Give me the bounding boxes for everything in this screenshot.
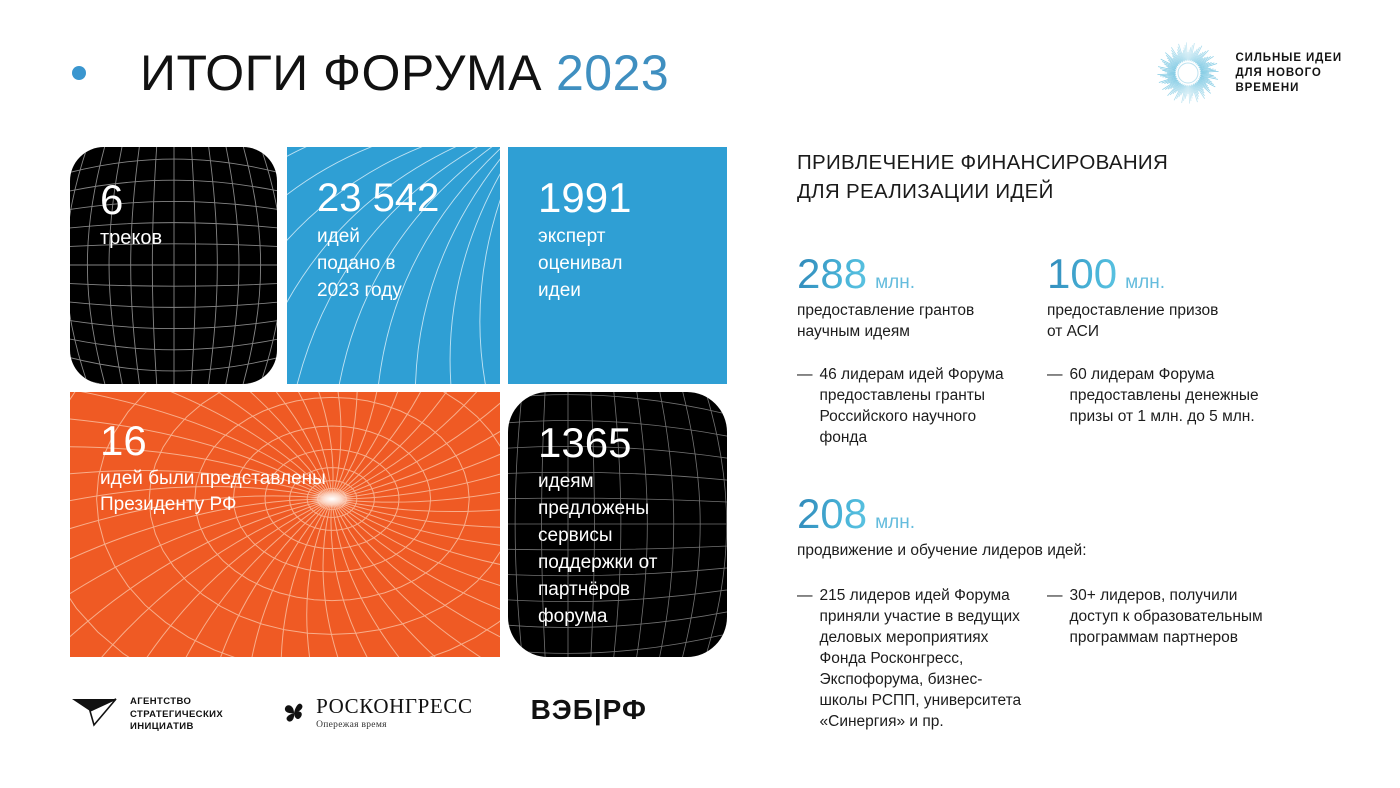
tile-tracks-number: 6 xyxy=(100,177,253,223)
stat-education-note-left-wrap: — 215 лидеров идей Форума приняли участи… xyxy=(797,585,1047,732)
radial-sunburst-icon xyxy=(1155,40,1221,106)
stat-prizes-value: 100 xyxy=(1047,250,1117,298)
stat-prizes-unit: млн. xyxy=(1125,272,1165,294)
stat-education-note-left-dash: — xyxy=(797,585,813,732)
stat-grants-unit: млн. xyxy=(875,272,915,294)
stat-education-note-right-wrap: — 30+ лидеров, получили доступ к образов… xyxy=(1047,585,1327,732)
partner-logos: Агентство СТРАТЕГИЧЕСКИХ ИНИЦИАТИВ РОСКО… xyxy=(70,695,647,735)
tile-experts-number: 1991 xyxy=(538,175,703,221)
stat-education-value: 208 xyxy=(797,490,867,538)
stat-education-note-left: — 215 лидеров идей Форума приняли участи… xyxy=(797,585,1047,732)
tile-services-number: 1365 xyxy=(538,420,703,466)
finance-section: ПРИВЛЕЧЕНИЕ ФИНАНСИРОВАНИЯ ДЛЯ РЕАЛИЗАЦИ… xyxy=(797,148,1342,732)
tile-experts-caption: эксперт оценивал идеи xyxy=(538,223,703,304)
stat-prizes-note: — 60 лидерам Форума предоставлены денежн… xyxy=(1047,364,1327,427)
infographic-page: ИТОГИ ФОРУМА2023 СИЛЬНЫЕ ИДЕИ ДЛЯ НОВОГО… xyxy=(0,0,1400,788)
stat-education-note-left-text: 215 лидеров идей Форума приняли участие … xyxy=(820,585,1022,732)
tile-ideas-submitted: 23 542 идей подано в 2023 году xyxy=(287,147,500,384)
tile-president-caption: идей были представлены Президенту РФ xyxy=(100,466,476,518)
stat-grants-note-dash: — xyxy=(797,364,813,448)
stat-education-description: продвижение и обучение лидеров идей: xyxy=(797,540,1342,561)
tile-experts: 1991 эксперт оценивал идеи xyxy=(508,147,727,384)
tile-services-caption: идеям предложены сервисы поддержки от па… xyxy=(538,468,703,630)
stat-grants-description: предоставление грантов научным идеям xyxy=(797,300,1047,342)
stat-education-notes: — 215 лидеров идей Форума приняли участи… xyxy=(797,585,1342,732)
tile-ideas-number: 23 542 xyxy=(317,175,476,221)
stat-grants-value: 288 xyxy=(797,250,867,298)
asi-arrow-icon xyxy=(70,695,122,735)
stat-education-note-right-text: 30+ лидеров, получили доступ к образоват… xyxy=(1070,585,1263,648)
brand-logo: СИЛЬНЫЕ ИДЕИ ДЛЯ НОВОГО ВРЕМЕНИ xyxy=(1155,40,1342,106)
brand-name: СИЛЬНЫЕ ИДЕИ ДЛЯ НОВОГО ВРЕМЕНИ xyxy=(1235,51,1342,96)
stat-education-note-right-dash: — xyxy=(1047,585,1063,648)
tile-partner-services: 1365 идеям предложены сервисы поддержки … xyxy=(508,392,727,657)
logo-asi: Агентство СТРАТЕГИЧЕСКИХ ИНИЦИАТИВ xyxy=(70,695,223,735)
logo-roscongress-tagline: Опережая время xyxy=(316,720,472,730)
tile-tracks-caption: треков xyxy=(100,225,253,252)
stat-education-unit: млн. xyxy=(875,512,915,534)
tile-tracks: 6 треков xyxy=(70,147,277,384)
stat-block-grants: 288 млн. предоставление грантов научным … xyxy=(797,250,1047,448)
stat-grants-note: — 46 лидерам идей Форума предоставлены г… xyxy=(797,364,1047,448)
stat-education-amount: 208 млн. xyxy=(797,490,1342,538)
logo-veb-name: ВЭБ|РФ xyxy=(531,695,647,725)
stat-block-prizes: 100 млн. предоставление призов от АСИ — … xyxy=(1047,250,1327,448)
stat-prizes-note-text: 60 лидерам Форума предоставлены денежные… xyxy=(1070,364,1259,427)
stat-prizes-note-dash: — xyxy=(1047,364,1063,427)
stat-grants-amount: 288 млн. xyxy=(797,250,1047,298)
stat-prizes-amount: 100 млн. xyxy=(1047,250,1327,298)
stat-grants-note-text: 46 лидерам идей Форума предоставлены гра… xyxy=(820,364,1004,448)
finance-heading: ПРИВЛЕЧЕНИЕ ФИНАНСИРОВАНИЯ ДЛЯ РЕАЛИЗАЦИ… xyxy=(797,148,1342,206)
logo-roscongress-name: РОСКОНГРЕСС xyxy=(316,695,472,718)
stat-education-note-right: — 30+ лидеров, получили доступ к образов… xyxy=(1047,585,1327,648)
logo-roscongress: РОСКОНГРЕСС Опережая время xyxy=(281,695,472,730)
finance-stats-row: 288 млн. предоставление грантов научным … xyxy=(797,250,1342,448)
logo-asi-text: Агентство СТРАТЕГИЧЕСКИХ ИНИЦИАТИВ xyxy=(130,696,223,734)
logo-veb: ВЭБ|РФ xyxy=(531,695,647,725)
stats-tile-grid: 6 треков 23 542 идей подано в 2023 году xyxy=(0,0,760,788)
roscongress-pinwheel-icon xyxy=(281,700,307,726)
tile-president-ideas: 16 идей были представлены Президенту РФ xyxy=(70,392,500,657)
stat-block-education: 208 млн. продвижение и обучение лидеров … xyxy=(797,490,1342,732)
stat-prizes-description: предоставление призов от АСИ xyxy=(1047,300,1327,342)
tile-ideas-caption: идей подано в 2023 году xyxy=(317,223,476,304)
tile-president-number: 16 xyxy=(100,418,476,464)
